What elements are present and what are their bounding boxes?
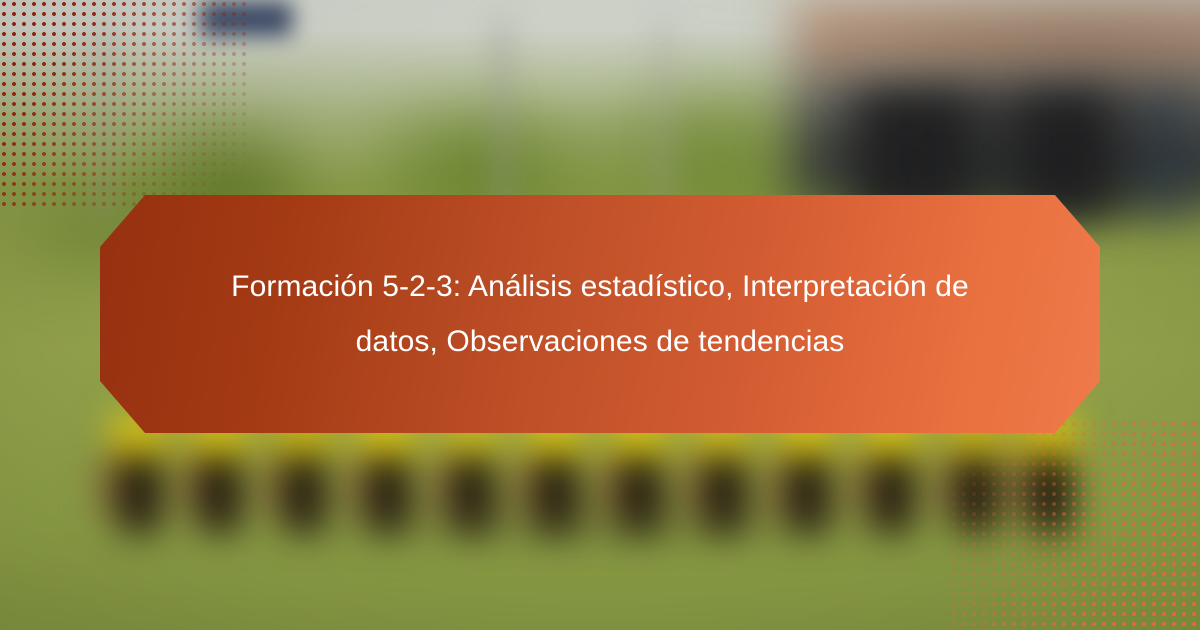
page-title: Formación 5-2-3: Análisis estadístico, I… <box>130 259 1070 369</box>
headline-banner: Formación 5-2-3: Análisis estadístico, I… <box>100 195 1100 433</box>
social-card: Formación 5-2-3: Análisis estadístico, I… <box>0 0 1200 630</box>
